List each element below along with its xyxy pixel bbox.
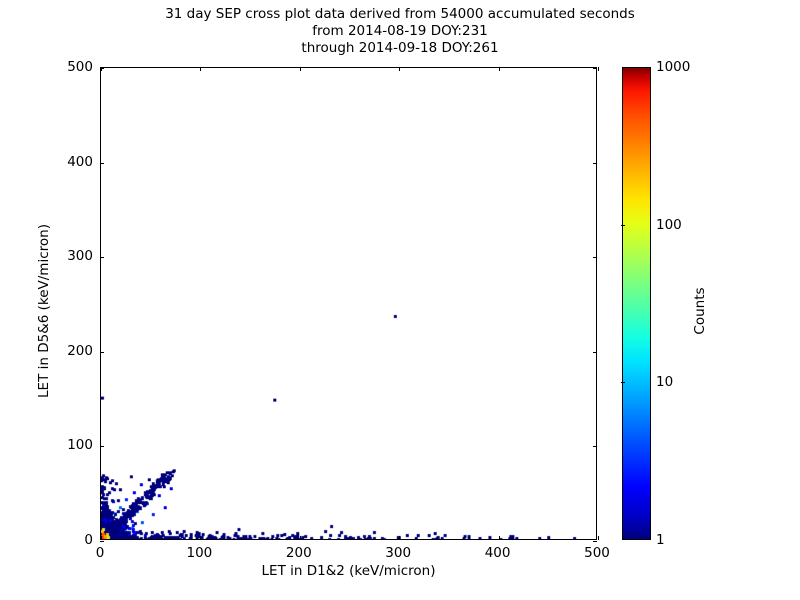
x-tick-top bbox=[399, 67, 400, 71]
x-tick-top bbox=[300, 67, 301, 71]
title-line-2: from 2014-08-19 DOY:231 bbox=[0, 23, 800, 40]
x-tick bbox=[499, 536, 500, 540]
title-line-1: 31 day SEP cross plot data derived from … bbox=[0, 6, 800, 23]
y-tick bbox=[100, 446, 104, 447]
y-tick-right bbox=[593, 257, 597, 258]
y-tick-right bbox=[593, 163, 597, 164]
x-tick bbox=[300, 536, 301, 540]
x-tick bbox=[200, 536, 201, 540]
x-tick-label: 200 bbox=[286, 545, 312, 561]
y-tick-label: 200 bbox=[67, 343, 93, 359]
colorbar-tick-label: 10 bbox=[656, 374, 673, 390]
y-tick-label: 0 bbox=[84, 532, 93, 548]
colorbar-tick bbox=[621, 382, 625, 383]
y-tick bbox=[100, 68, 104, 69]
y-tick-label: 400 bbox=[67, 154, 93, 170]
x-tick bbox=[101, 536, 102, 540]
x-tick-label: 0 bbox=[96, 545, 105, 561]
y-tick bbox=[100, 257, 104, 258]
x-tick bbox=[598, 536, 599, 540]
y-tick-label: 500 bbox=[67, 59, 93, 75]
y-tick bbox=[100, 163, 104, 164]
x-axis-title: LET in D1&2 (keV/micron) bbox=[100, 563, 597, 579]
plot-axes bbox=[100, 67, 597, 540]
colorbar bbox=[622, 67, 651, 540]
y-tick-label: 100 bbox=[67, 437, 93, 453]
y-tick bbox=[100, 352, 104, 353]
colorbar-tick-label: 100 bbox=[656, 217, 682, 233]
x-tick-label: 400 bbox=[485, 545, 511, 561]
y-tick-right bbox=[593, 446, 597, 447]
y-tick-right bbox=[593, 68, 597, 69]
scatter-data-layer bbox=[101, 68, 596, 539]
y-tick-right bbox=[593, 352, 597, 353]
y-tick bbox=[100, 541, 104, 542]
colorbar-tick-label: 1 bbox=[656, 532, 665, 548]
colorbar-gradient bbox=[622, 67, 651, 540]
x-tick-label: 300 bbox=[385, 545, 411, 561]
figure-canvas: 31 day SEP cross plot data derived from … bbox=[0, 0, 800, 600]
title-line-3: through 2014-09-18 DOY:261 bbox=[0, 40, 800, 57]
colorbar-tick-label: 1000 bbox=[656, 59, 690, 75]
x-tick-label: 500 bbox=[584, 545, 610, 561]
x-tick bbox=[399, 536, 400, 540]
figure-title: 31 day SEP cross plot data derived from … bbox=[0, 6, 800, 57]
x-tick-top bbox=[200, 67, 201, 71]
colorbar-title: Counts bbox=[692, 231, 708, 391]
y-axis-title: LET in D5&6 (keV/micron) bbox=[36, 171, 52, 451]
x-tick-label: 100 bbox=[187, 545, 213, 561]
x-tick-top bbox=[499, 67, 500, 71]
x-tick-top bbox=[598, 67, 599, 71]
y-tick-right bbox=[593, 541, 597, 542]
colorbar-tick bbox=[621, 225, 625, 226]
y-tick-label: 300 bbox=[67, 248, 93, 264]
